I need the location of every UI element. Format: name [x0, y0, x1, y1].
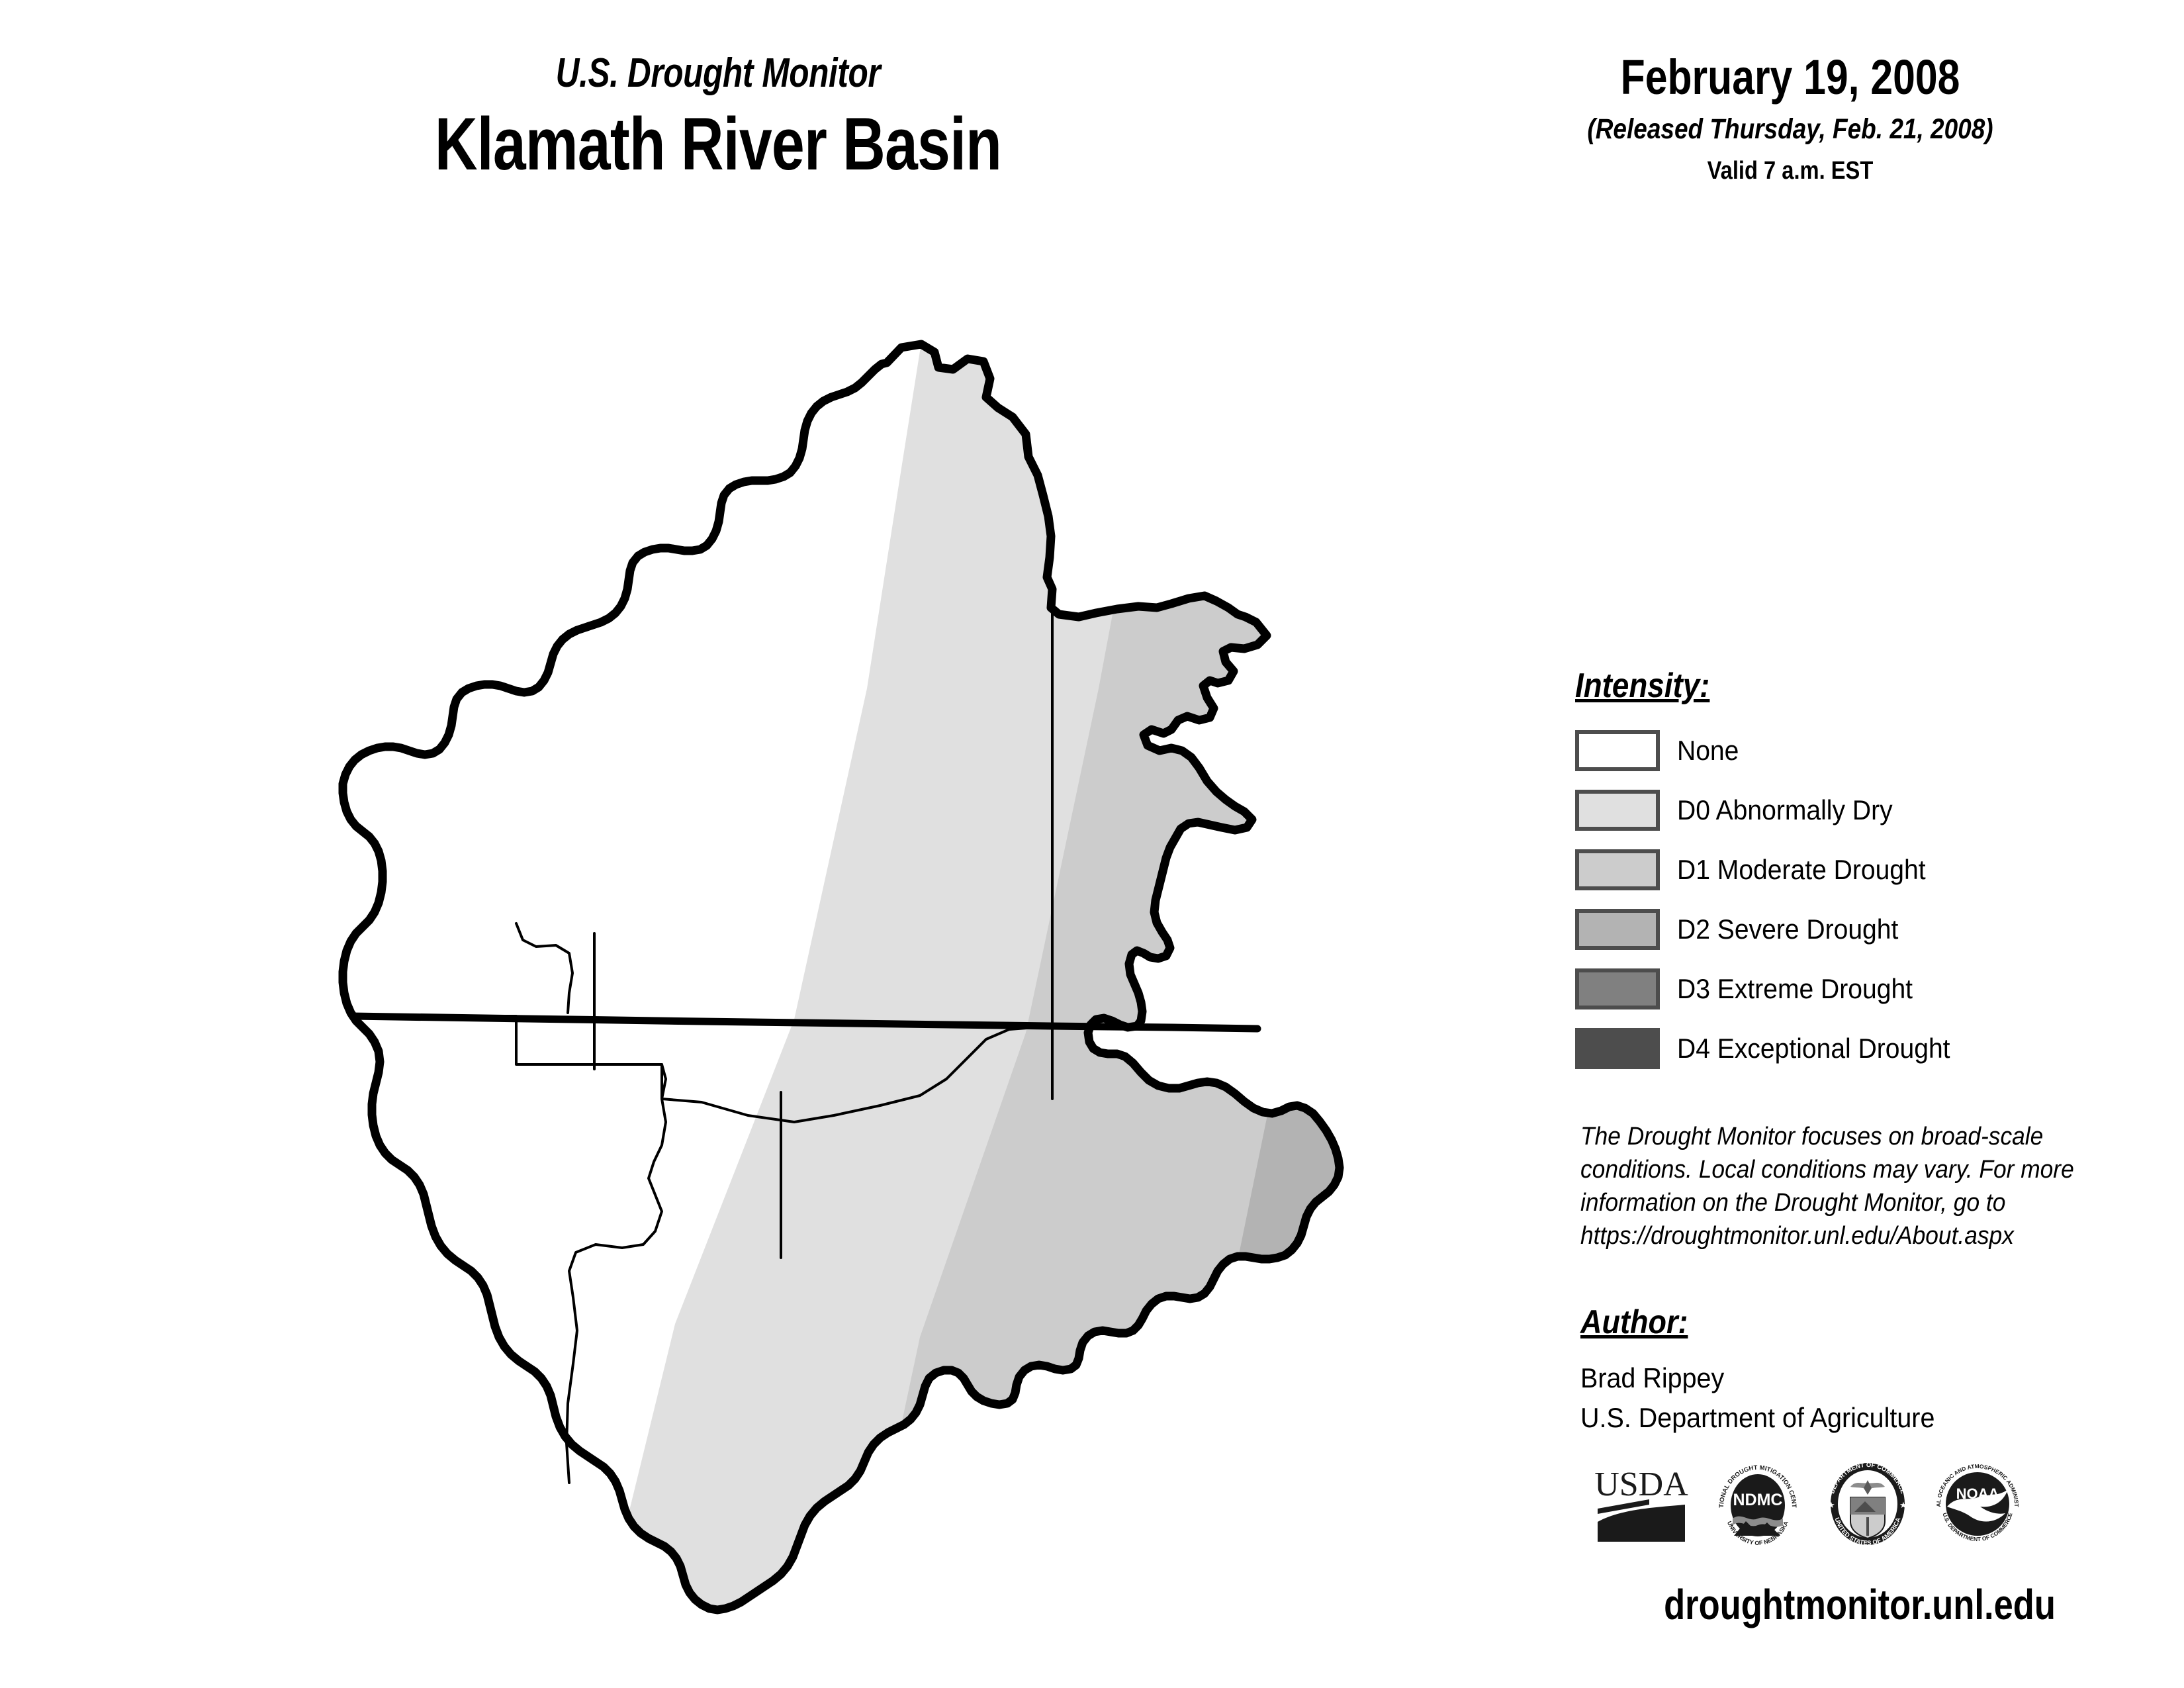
drought-map	[199, 318, 1456, 1648]
valid-time: Valid 7 a.m. EST	[1503, 158, 2078, 183]
header-right-dates: February 19, 2008 (Released Thursday, Fe…	[1456, 53, 2124, 183]
legend-label-none: None	[1677, 737, 1739, 765]
author-name: Brad Rippey	[1580, 1358, 2140, 1398]
legend-item-d0[interactable]: D0 Abnormally Dry	[1575, 785, 2144, 835]
legend-swatch-d2	[1575, 909, 1660, 950]
header-left-titles: U.S. Drought Monitor Klamath River Basin	[238, 53, 1198, 185]
ndmc-logo-text: NDMC	[1733, 1491, 1783, 1509]
disclaimer-text: The Drought Monitor focuses on broad-sca…	[1580, 1120, 2147, 1253]
legend-swatch-d1	[1575, 849, 1660, 890]
legend-swatch-d3	[1575, 968, 1660, 1009]
legend-label-d1: D1 Moderate Drought	[1677, 856, 1926, 884]
legend-swatch-d4	[1575, 1028, 1660, 1069]
map-date: February 19, 2008	[1516, 53, 2064, 102]
program-title: U.S. Drought Monitor	[334, 53, 1102, 94]
legend-item-d1[interactable]: D1 Moderate Drought	[1575, 845, 2144, 895]
legend-label-d3: D3 Extreme Drought	[1677, 975, 1913, 1003]
disclaimer-line-2: conditions. Local conditions may vary. F…	[1580, 1153, 2147, 1186]
doc-star-left: ★	[1827, 1500, 1835, 1510]
noaa-logo-text: NOAA	[1956, 1485, 1999, 1502]
agency-logos: USDA NATIONAL DROUGHT MITIGATION CENTER …	[1588, 1451, 2158, 1557]
legend-label-d4: D4 Exceptional Drought	[1677, 1035, 1950, 1062]
legend: Intensity: None D0 Abnormally Dry D1 Mod…	[1575, 669, 2144, 1083]
usda-logo-text: USDA	[1594, 1466, 1688, 1503]
release-date: (Released Thursday, Feb. 21, 2008)	[1503, 115, 2078, 144]
legend-item-d2[interactable]: D2 Severe Drought	[1575, 904, 2144, 955]
disclaimer-line-3: information on the Drought Monitor, go t…	[1580, 1186, 2147, 1219]
page-title: Klamath River Basin	[334, 105, 1102, 185]
legend-item-d4[interactable]: D4 Exceptional Drought	[1575, 1023, 2144, 1074]
disclaimer-link[interactable]: https://droughtmonitor.unl.edu/About.asp…	[1580, 1219, 2147, 1252]
legend-item-none[interactable]: None	[1575, 726, 2144, 776]
legend-swatch-none	[1575, 730, 1660, 771]
department-of-commerce-logo: DEPARTMENT OF COMMERCE UNITED STATES OF …	[1821, 1458, 1914, 1550]
author-heading: Author:	[1580, 1305, 2116, 1338]
doc-star-right: ★	[1899, 1500, 1907, 1510]
ndmc-logo: NATIONAL DROUGHT MITIGATION CENTER UNIVE…	[1711, 1458, 1804, 1550]
legend-label-d0: D0 Abnormally Dry	[1677, 796, 1893, 824]
noaa-logo: NATIONAL OCEANIC AND ATMOSPHERIC ADMINIS…	[1931, 1458, 2024, 1550]
usda-logo: USDA	[1588, 1461, 1694, 1547]
map-svg	[199, 318, 1456, 1648]
author-affiliation: U.S. Department of Agriculture	[1580, 1398, 2140, 1438]
author-section: Author: Brad Rippey U.S. Department of A…	[1580, 1305, 2176, 1437]
legend-swatch-d0	[1575, 790, 1660, 831]
legend-item-d3[interactable]: D3 Extreme Drought	[1575, 964, 2144, 1014]
disclaimer-line-1: The Drought Monitor focuses on broad-sca…	[1580, 1120, 2147, 1153]
footer-url[interactable]: droughtmonitor.unl.edu	[1626, 1583, 2093, 1626]
legend-heading: Intensity:	[1575, 669, 2076, 703]
legend-label-d2: D2 Severe Drought	[1677, 915, 1898, 943]
